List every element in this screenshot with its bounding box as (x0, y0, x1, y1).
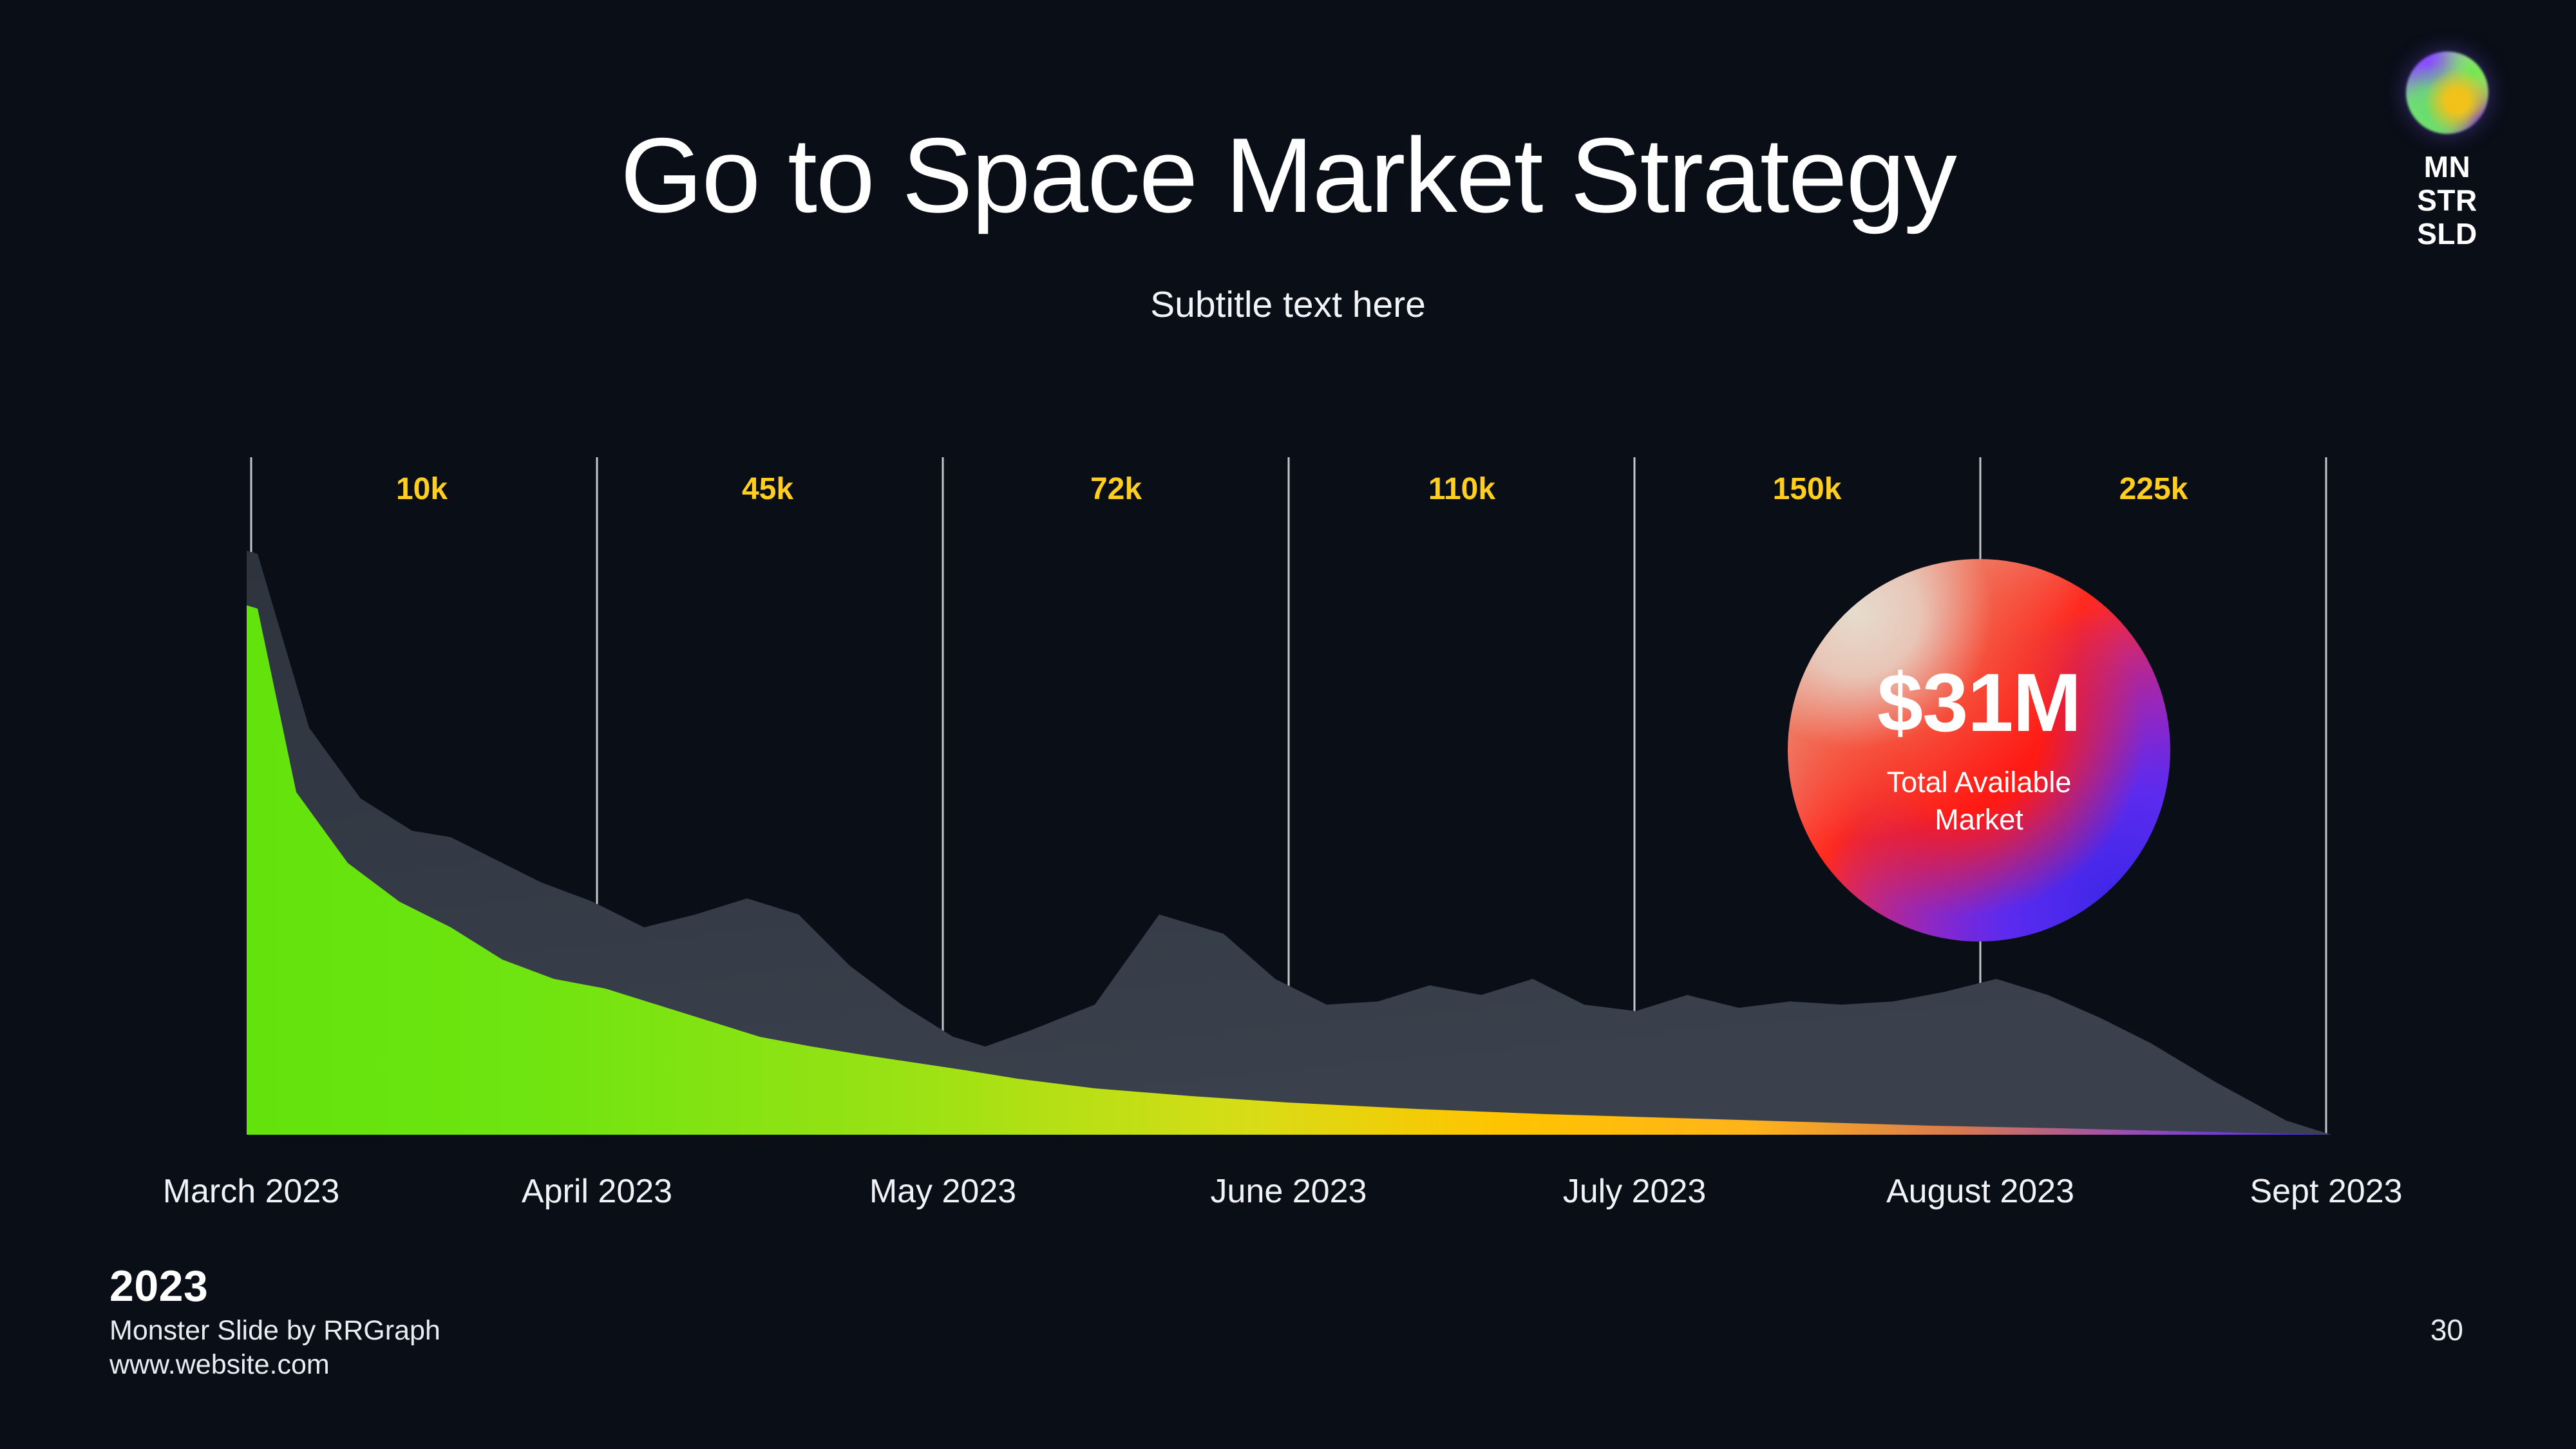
value-label-4: 150k (1773, 471, 1842, 507)
area-chart: 10k 45k 72k 110k 150k 225k March 2023 Ap… (0, 0, 2576, 1449)
x-axis-label-6: Sept 2023 (2249, 1172, 2402, 1211)
footer-website[interactable]: www.website.com (109, 1349, 330, 1381)
page-number: 30 (2430, 1312, 2463, 1347)
x-axis-label-0: March 2023 (163, 1172, 340, 1211)
value-label-0: 10k (396, 471, 448, 507)
value-label-1: 45k (742, 471, 793, 507)
value-label-5: 225k (2119, 471, 2188, 507)
x-axis-label-2: May 2023 (869, 1172, 1016, 1211)
footer-year: 2023 (109, 1261, 208, 1311)
total-available-market-badge[interactable]: $31M Total Available Market (1788, 559, 2170, 942)
x-axis-label-5: August 2023 (1886, 1172, 2074, 1211)
x-axis-label-4: July 2023 (1563, 1172, 1707, 1211)
chart-canvas (0, 0, 2576, 1449)
x-axis-label-1: April 2023 (522, 1172, 672, 1211)
x-axis-label-3: June 2023 (1211, 1172, 1367, 1211)
tam-value: $31M (1877, 662, 2081, 744)
footer-credit: Monster Slide by RRGraph (109, 1315, 440, 1347)
value-label-3: 110k (1428, 471, 1495, 507)
tam-label: Total Available Market (1863, 764, 2095, 838)
value-label-2: 72k (1090, 471, 1142, 507)
slide-root: Go to Space Market Strategy Subtitle tex… (0, 0, 2576, 1449)
